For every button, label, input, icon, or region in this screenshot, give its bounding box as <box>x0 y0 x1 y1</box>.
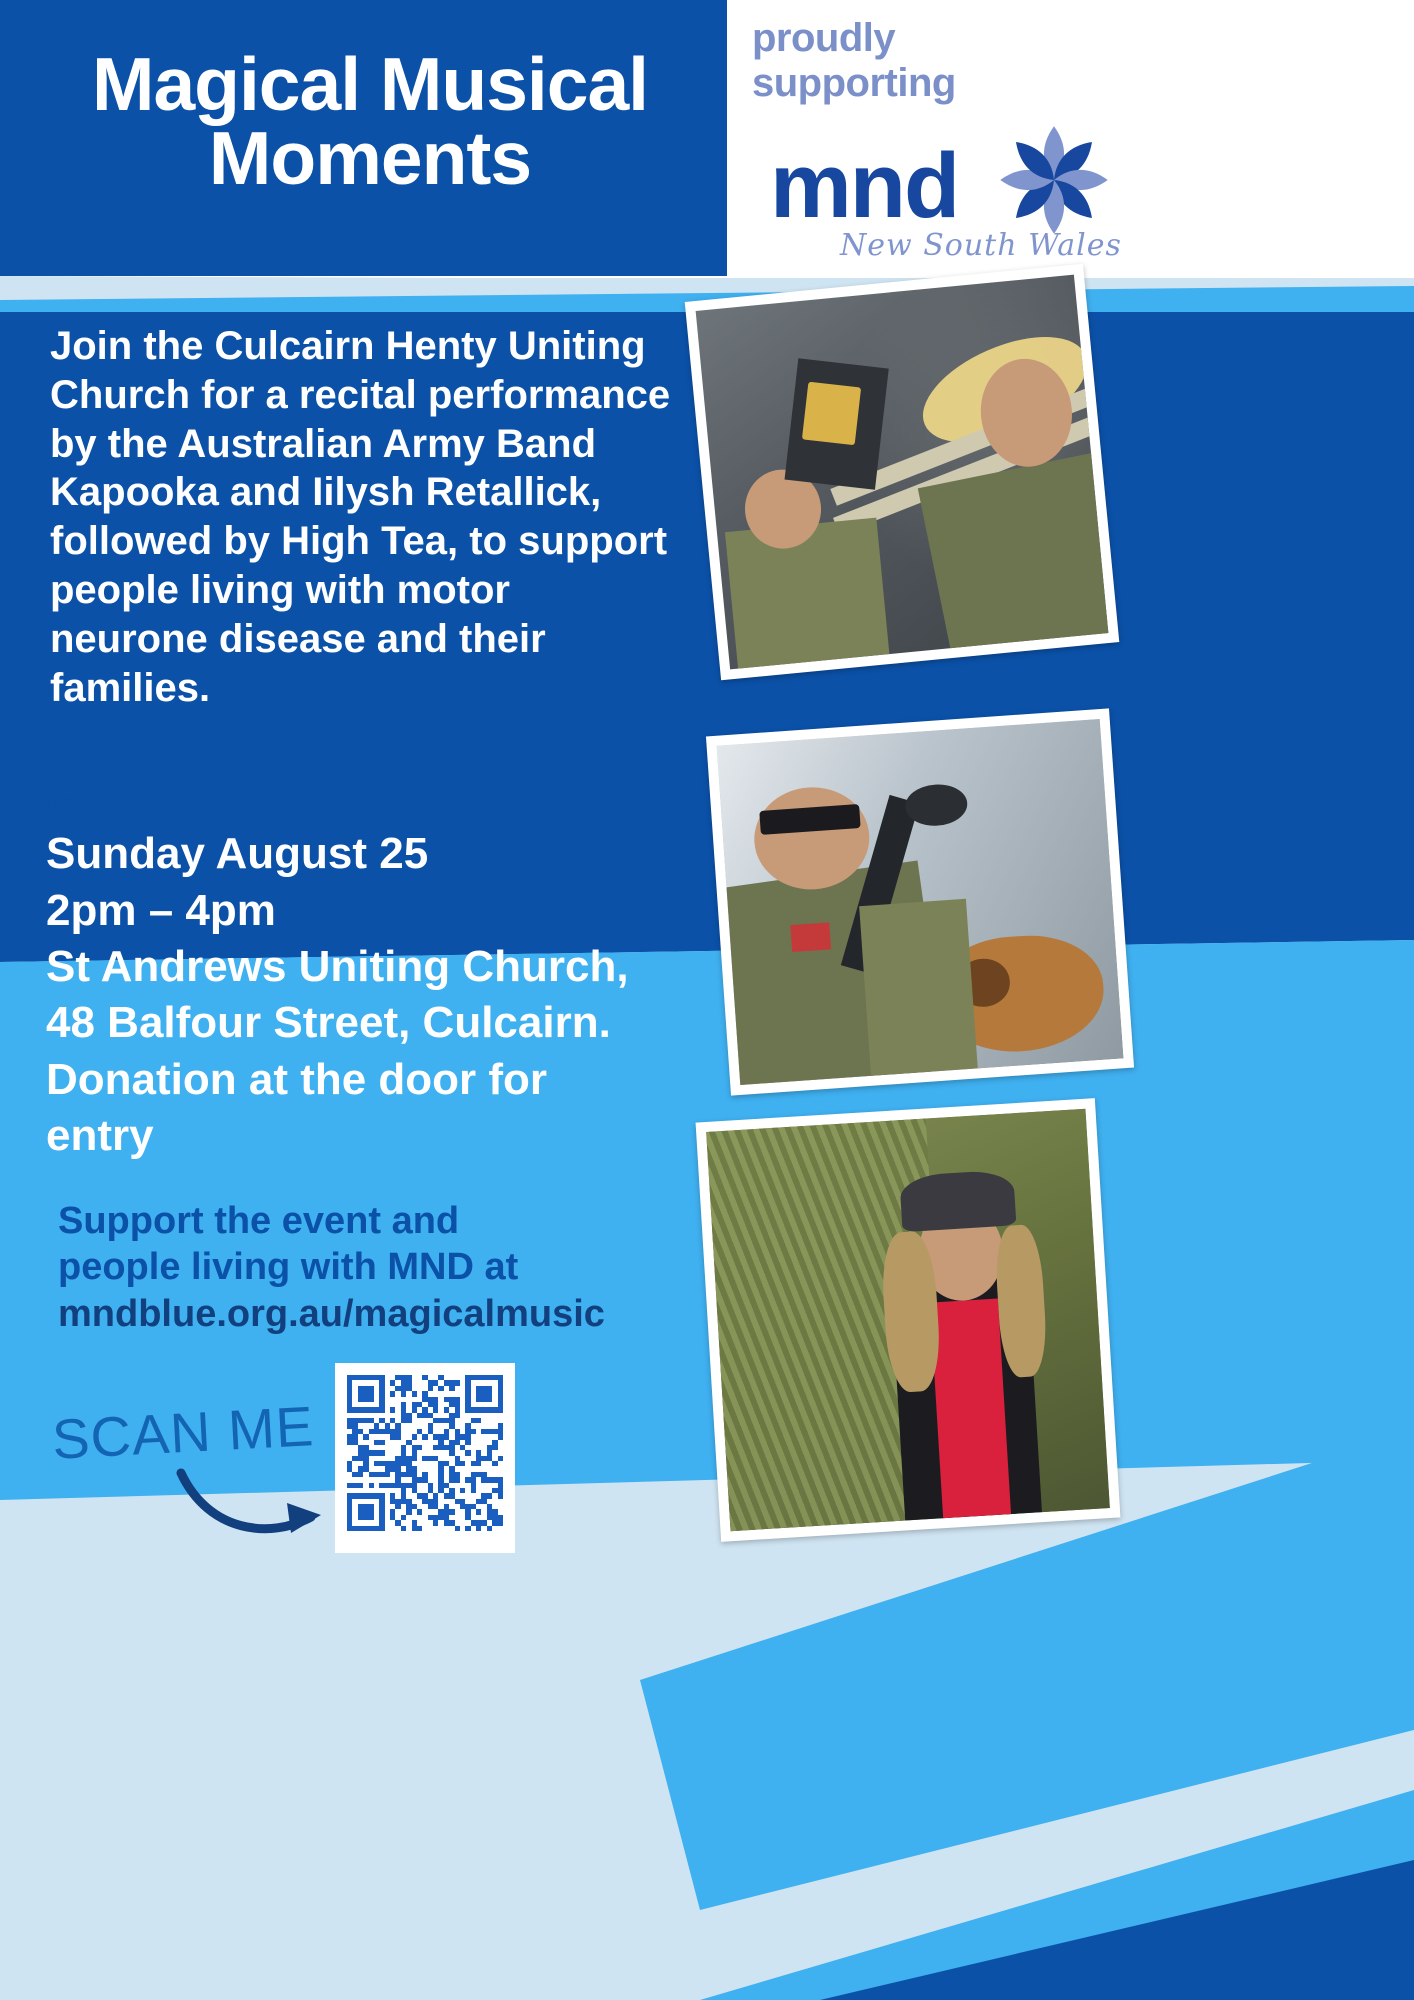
photo-soldier-guitar-vocalist <box>706 708 1134 1095</box>
poster-title-line-1: Magical Musical <box>20 48 720 122</box>
support-block: Support the event and people living with… <box>58 1198 718 1337</box>
mnd-region-label: New South Wales <box>840 228 1140 263</box>
photo-iilysh-retallick-portrait <box>696 1098 1121 1542</box>
event-details-line: 2pm – 4pm <box>46 883 746 939</box>
qr-code[interactable] <box>335 1363 515 1553</box>
poster-title: Magical Musical Moments <box>20 48 720 195</box>
mnd-flower-icon <box>992 118 1116 242</box>
support-line-2: people living with MND at <box>58 1244 718 1290</box>
event-details-line: Donation at the door for <box>46 1052 746 1108</box>
poster-title-line-2: Moments <box>20 122 720 196</box>
curved-arrow-icon <box>175 1455 335 1545</box>
intro-line: people living with motor <box>50 566 690 615</box>
intro-line: families. <box>50 664 690 713</box>
intro-line: Kapooka and Iilysh Retallick, <box>50 468 690 517</box>
event-details: Event Details: Sunday August 25 2pm – 4p… <box>46 770 746 1164</box>
event-details-line: Sunday August 25 <box>46 826 746 882</box>
proudly-supporting-line-1: proudly <box>752 16 1102 61</box>
intro-line: neurone disease and their <box>50 615 690 664</box>
photo-army-band-trombones <box>685 264 1120 681</box>
intro-line: Church for a recital performance <box>50 371 690 420</box>
event-details-line: 48 Balfour Street, Culcairn. <box>46 995 746 1051</box>
proudly-supporting-text: proudly supporting <box>752 16 1102 106</box>
intro-line: followed by High Tea, to support <box>50 517 690 566</box>
support-line-1: Support the event and <box>58 1198 718 1244</box>
poster-root: Magical Musical Moments proudly supporti… <box>0 0 1414 2000</box>
event-details-line: entry <box>46 1108 746 1164</box>
mnd-wordmark: mnd <box>770 140 958 232</box>
proudly-supporting-line-2: supporting <box>752 61 1102 106</box>
event-details-heading: Event Details: <box>46 770 746 826</box>
event-details-line: St Andrews Uniting Church, <box>46 939 746 995</box>
support-url[interactable]: mndblue.org.au/magicalmusic <box>58 1291 718 1337</box>
intro-line: by the Australian Army Band <box>50 420 690 469</box>
intro-paragraph: Join the Culcairn Henty Uniting Church f… <box>50 322 690 712</box>
intro-line: Join the Culcairn Henty Uniting <box>50 322 690 371</box>
